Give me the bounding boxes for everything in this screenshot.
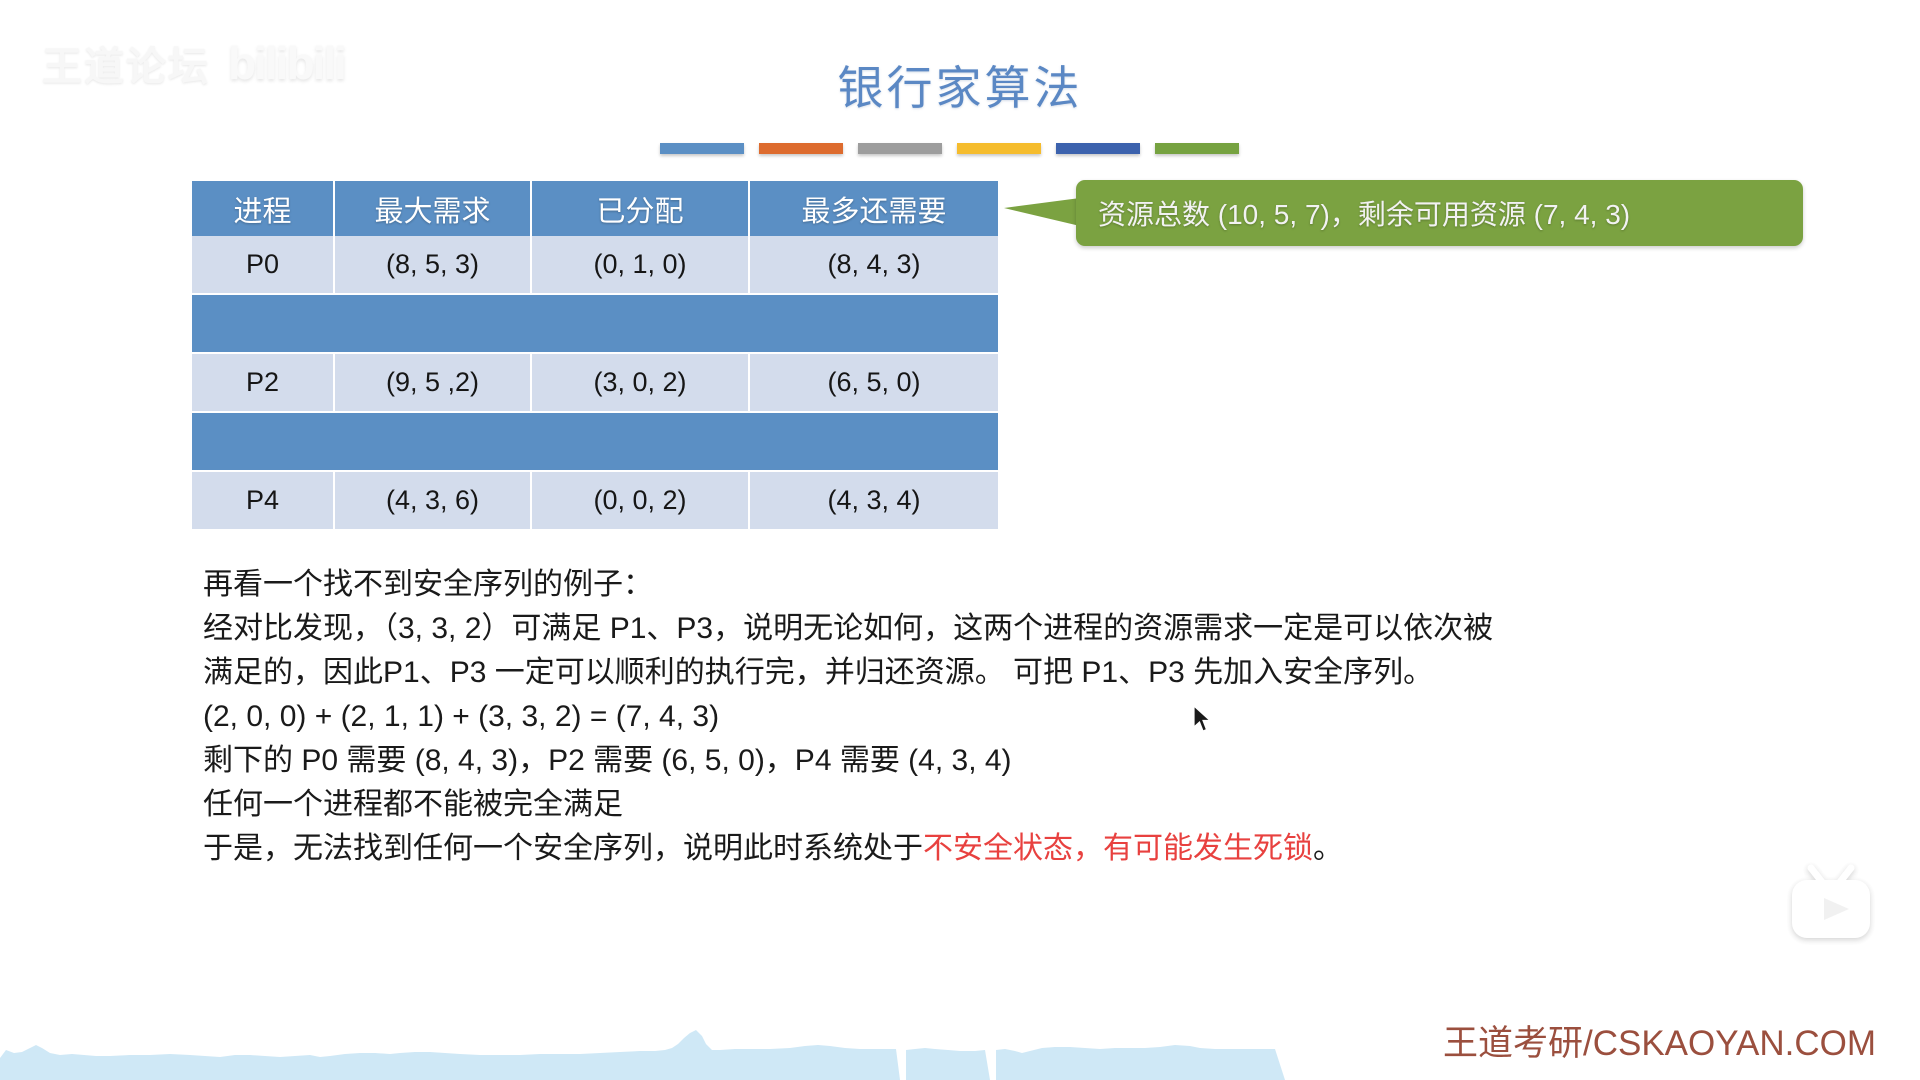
cell-max bbox=[334, 294, 531, 353]
cell-allocated: (3, 0, 2) bbox=[531, 353, 749, 412]
text-line-7-suffix: 。 bbox=[1313, 832, 1343, 865]
text-line-3: 满足的，因此P1、P3 一定可以顺利的执行完，并归还资源。 可把 P1、P3 先… bbox=[203, 651, 1853, 695]
accent-bar-orange bbox=[759, 143, 843, 154]
cell-need: (4, 3, 4) bbox=[749, 471, 998, 530]
cell-max: (8, 5, 3) bbox=[334, 236, 531, 294]
text-line-4: (2, 0, 0) + (2, 1, 1) + (3, 3, 2) = (7, … bbox=[203, 695, 1853, 739]
cell-process: P1 bbox=[192, 294, 334, 353]
table-header-row: 进程 最大需求 已分配 最多还需要 bbox=[192, 181, 998, 236]
table-row-covered: P3 bbox=[192, 412, 998, 471]
cell-need: (8, 4, 3) bbox=[749, 236, 998, 294]
accent-bar-row bbox=[660, 143, 1239, 154]
cell-need: (6, 5, 0) bbox=[749, 353, 998, 412]
video-heatmap-graph[interactable] bbox=[0, 1008, 1330, 1080]
header-still-need: 最多还需要 bbox=[749, 181, 998, 236]
process-table: 进程 最大需求 已分配 最多还需要 P0 (8, 5, 3) (0, 1, 0)… bbox=[192, 181, 998, 531]
explanation-text-block: 再看一个找不到安全序列的例子： 经对比发现，（3, 3, 2）可满足 P1、P3… bbox=[203, 563, 1853, 871]
table-row: P0 (8, 5, 3) (0, 1, 0) (8, 4, 3) bbox=[192, 236, 998, 294]
text-line-7: 于是，无法找到任何一个安全序列，说明此时系统处于不安全状态，有可能发生死锁。 bbox=[203, 827, 1853, 871]
text-line-5: 剩下的 P0 需要 (8, 4, 3)，P2 需要 (6, 5, 0)，P4 需… bbox=[203, 739, 1853, 783]
table-row-covered: P1 bbox=[192, 294, 998, 353]
table-row: P4 (4, 3, 6) (0, 0, 2) (4, 3, 4) bbox=[192, 471, 998, 530]
cell-allocated: (0, 1, 0) bbox=[531, 236, 749, 294]
cell-allocated bbox=[531, 294, 749, 353]
cell-process: P2 bbox=[192, 353, 334, 412]
accent-bar-blue bbox=[660, 143, 744, 154]
page-title: 银行家算法 bbox=[0, 52, 1920, 118]
cell-max bbox=[334, 412, 531, 471]
text-line-6: 任何一个进程都不能被完全满足 bbox=[203, 783, 1853, 827]
table-row: P2 (9, 5 ,2) (3, 0, 2) (6, 5, 0) bbox=[192, 353, 998, 412]
header-allocated: 已分配 bbox=[531, 181, 749, 236]
cell-max: (4, 3, 6) bbox=[334, 471, 531, 530]
accent-bar-indigo bbox=[1056, 143, 1140, 154]
cell-max: (9, 5 ,2) bbox=[334, 353, 531, 412]
cell-process: P3 bbox=[192, 412, 334, 471]
text-line-7-prefix: 于是，无法找到任何一个安全序列，说明此时系统处于 bbox=[203, 832, 923, 865]
resource-callout: 资源总数 (10, 5, 7)，剩余可用资源 (7, 4, 3) bbox=[1076, 180, 1803, 246]
header-process: 进程 bbox=[192, 181, 334, 236]
cell-need bbox=[749, 294, 998, 353]
slide-canvas: 王道论坛 bilibili 银行家算法 进程 最大需求 已分配 最多还需要 bbox=[0, 0, 1920, 1080]
callout-pointer bbox=[1004, 198, 1080, 226]
footer-site-text: 王道考研/CSKAOYAN.COM bbox=[1443, 1015, 1876, 1066]
accent-bar-gray bbox=[858, 143, 942, 154]
process-table-wrapper: 进程 最大需求 已分配 最多还需要 P0 (8, 5, 3) (0, 1, 0)… bbox=[192, 181, 998, 531]
cell-process: P4 bbox=[192, 471, 334, 530]
cell-need bbox=[749, 412, 998, 471]
cell-process: P0 bbox=[192, 236, 334, 294]
text-line-7-highlight: 不安全状态，有可能发生死锁 bbox=[923, 832, 1313, 865]
accent-bar-green bbox=[1155, 143, 1239, 154]
text-line-2: 经对比发现，（3, 3, 2）可满足 P1、P3，说明无论如何，这两个进程的资源… bbox=[203, 607, 1853, 651]
text-line-1: 再看一个找不到安全序列的例子： bbox=[203, 563, 1853, 607]
bilibili-play-icon bbox=[1785, 862, 1877, 954]
cell-allocated bbox=[531, 412, 749, 471]
cell-allocated: (0, 0, 2) bbox=[531, 471, 749, 530]
header-max-need: 最大需求 bbox=[334, 181, 531, 236]
accent-bar-yellow bbox=[957, 143, 1041, 154]
callout-text: 资源总数 (10, 5, 7)，剩余可用资源 (7, 4, 3) bbox=[1098, 193, 1630, 233]
